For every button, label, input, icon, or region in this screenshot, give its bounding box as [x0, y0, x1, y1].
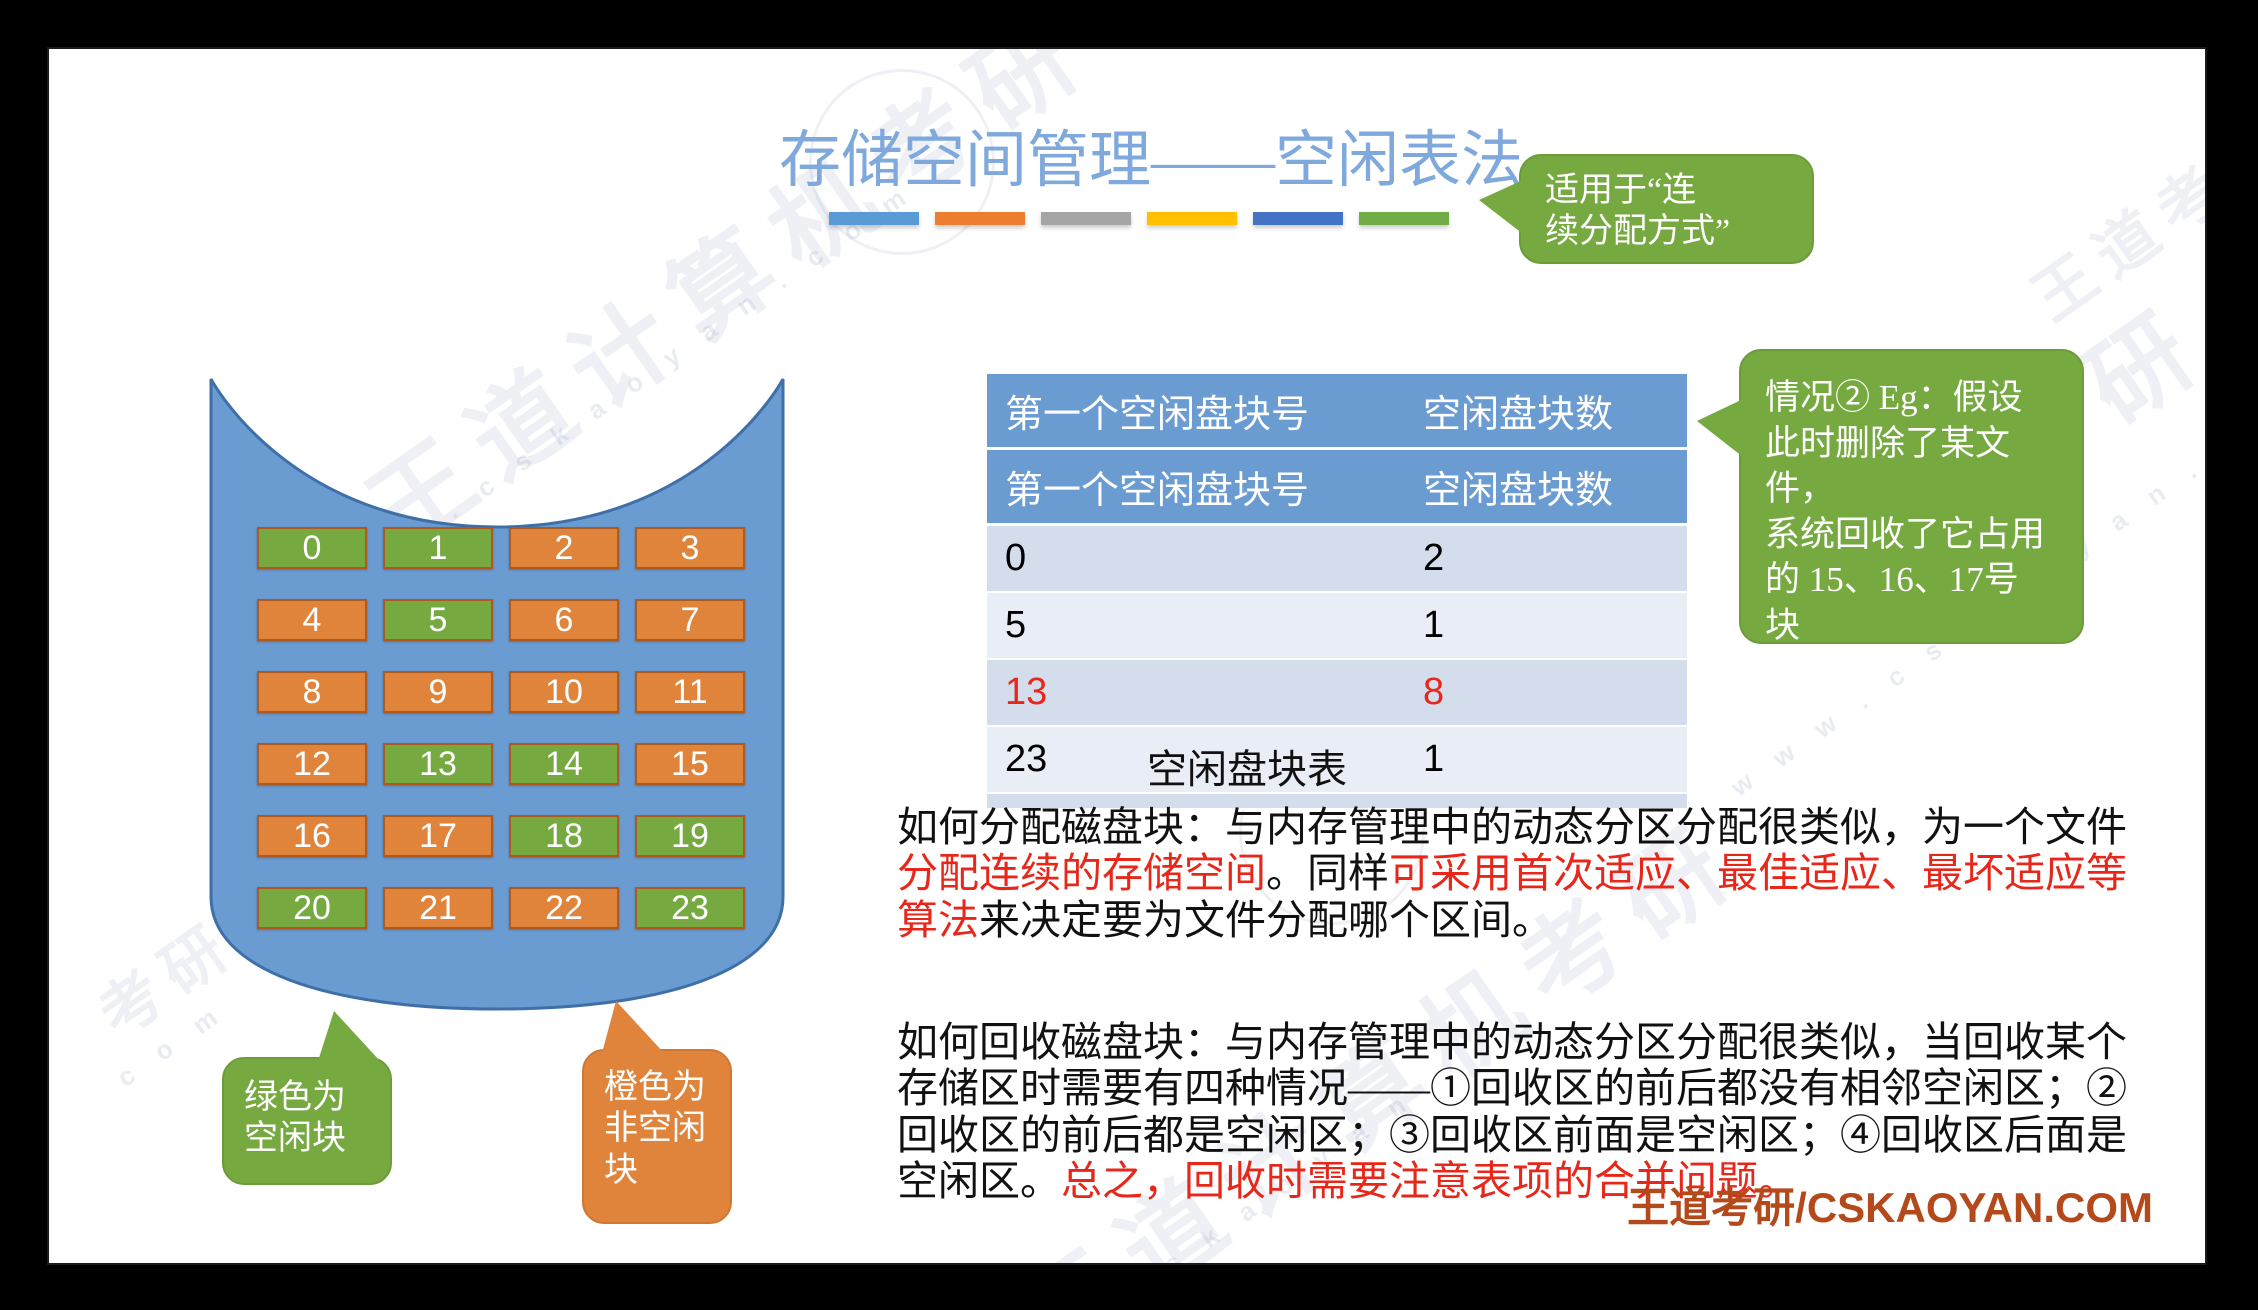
- accent-bar: [829, 212, 919, 225]
- legend-free-text: 绿色为 空闲块: [244, 1077, 390, 1160]
- legend-used-text: 橙色为 非空闲 块: [604, 1067, 730, 1191]
- callout-applicable-text: 适用于“连 续分配方式”: [1545, 170, 1796, 253]
- callout-tail: [1697, 399, 1743, 457]
- disk-block-13: 13: [383, 743, 493, 785]
- disk-block-20: 20: [257, 887, 367, 929]
- table-head: 第一个空闲盘块号空闲盘块数第一个空闲盘块号空闲盘块数: [987, 374, 1687, 525]
- disk-block-23: 23: [635, 887, 745, 929]
- disk-block-0: 0: [257, 527, 367, 569]
- callout-applicable: 适用于“连 续分配方式”: [1519, 154, 1814, 264]
- disk-block-4: 4: [257, 599, 367, 641]
- callout-tail: [318, 1011, 380, 1061]
- accent-bar: [935, 212, 1025, 225]
- table-header-cell: 第一个空闲盘块号: [987, 449, 1405, 525]
- disk-diagram: 01234567891011121314151617181920212223: [209, 377, 785, 1011]
- title-block: 存储空间管理——空闲表法: [779, 129, 1499, 225]
- page-title: 存储空间管理——空闲表法: [779, 129, 1499, 194]
- paragraph-allocation: 如何分配磁盘块：与内存管理中的动态分区分配很类似，为一个文件分配连续的存储空间。…: [897, 804, 2137, 943]
- disk-block-18: 18: [509, 815, 619, 857]
- disk-block-8: 8: [257, 671, 367, 713]
- title-accent-bars: [779, 212, 1499, 225]
- accent-bar: [1253, 212, 1343, 225]
- legend-used-callout: 橙色为 非空闲 块: [582, 1049, 732, 1224]
- callout-tail: [602, 1001, 664, 1053]
- footer-brand: 王道考研/CSKAOYAN.COM: [1627, 1174, 2153, 1235]
- body-text: 。同样: [1266, 850, 1389, 896]
- legend-free-callout: 绿色为 空闲块: [222, 1057, 392, 1185]
- table-row: 138: [987, 659, 1687, 726]
- disk-block-grid: 01234567891011121314151617181920212223: [257, 527, 747, 929]
- table-row: 02: [987, 525, 1687, 593]
- slide-canvas: 王道计算机考研w w w . c s k a o y a n . c o m王道…: [47, 47, 2207, 1265]
- body-text: 来决定要为文件分配哪个区间。: [979, 897, 1553, 943]
- disk-block-15: 15: [635, 743, 745, 785]
- table-cell-first-block: 13: [987, 659, 1405, 726]
- disk-block-3: 3: [635, 527, 745, 569]
- disk-block-9: 9: [383, 671, 493, 713]
- table-header-cell: 第一个空闲盘块号: [987, 374, 1405, 449]
- accent-bar: [1041, 212, 1131, 225]
- accent-bar: [1147, 212, 1237, 225]
- disk-block-5: 5: [383, 599, 493, 641]
- disk-block-17: 17: [383, 815, 493, 857]
- disk-block-12: 12: [257, 743, 367, 785]
- disk-block-21: 21: [383, 887, 493, 929]
- table-cell-count: 8: [1405, 659, 1687, 726]
- disk-block-14: 14: [509, 743, 619, 785]
- table-cell-count: 2: [1405, 525, 1687, 593]
- disk-block-6: 6: [509, 599, 619, 641]
- table-cell-first-block: 0: [987, 525, 1405, 593]
- table-cell-first-block: 5: [987, 592, 1405, 659]
- disk-block-1: 1: [383, 527, 493, 569]
- callout-tail: [1479, 180, 1523, 234]
- table-header-cell: 空闲盘块数: [1405, 374, 1687, 449]
- disk-block-10: 10: [509, 671, 619, 713]
- table-row: 51: [987, 592, 1687, 659]
- body-text: 如何分配磁盘块：与内存管理中的动态分区分配很类似，为一个文件: [897, 804, 2127, 850]
- disk-block-11: 11: [635, 671, 745, 713]
- disk-block-19: 19: [635, 815, 745, 857]
- disk-block-2: 2: [509, 527, 619, 569]
- table-header-cell: 空闲盘块数: [1405, 449, 1687, 525]
- disk-block-7: 7: [635, 599, 745, 641]
- accent-bar: [1359, 212, 1449, 225]
- disk-block-16: 16: [257, 815, 367, 857]
- table-caption: 空闲盘块表: [987, 737, 1507, 795]
- table-header-row: 第一个空闲盘块号空闲盘块数: [987, 449, 1687, 525]
- table-cell-count: 1: [1405, 592, 1687, 659]
- disk-block-22: 22: [509, 887, 619, 929]
- table-header-row: 第一个空闲盘块号空闲盘块数: [987, 374, 1687, 449]
- watermark-text: 王道考研: [2011, 90, 2207, 337]
- emphasis-text: 分配连续的存储空间: [897, 850, 1266, 896]
- callout-case-two-text: 情况② Eg：假设 此时删除了某文件， 系统回收了它占用 的 15、16、17号…: [1765, 375, 2064, 648]
- callout-case-two: 情况② Eg：假设 此时删除了某文件， 系统回收了它占用 的 15、16、17号…: [1739, 349, 2084, 644]
